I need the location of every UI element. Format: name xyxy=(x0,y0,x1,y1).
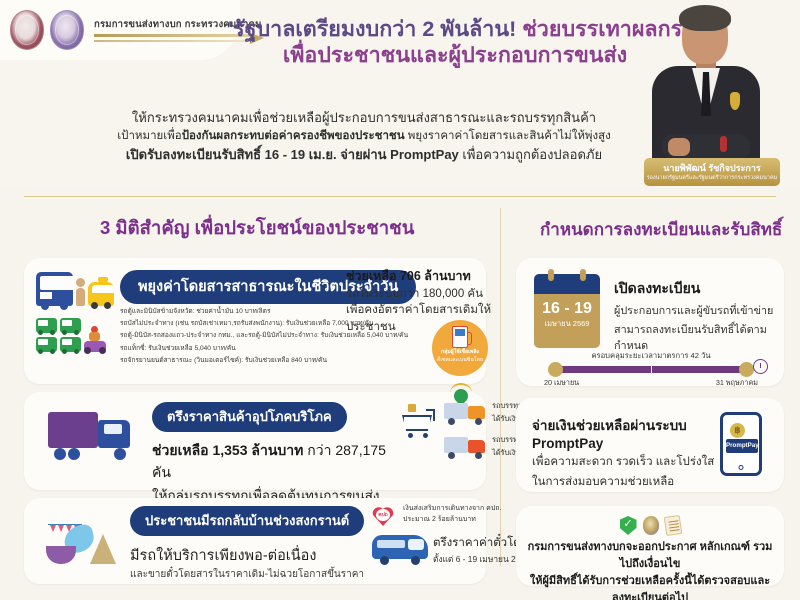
card1-bullet-3: รถแท็กซี่: รับเงินช่วยเหลือ 5,040 บาท/คั… xyxy=(120,343,420,355)
timeline-caption: ครอบคลุมระยะเวลามาตรการ 42 วัน xyxy=(538,350,764,362)
taxi-icon xyxy=(88,282,114,306)
measure-timeline: ครอบคลุมระยะเวลามาตรการ 42 วัน 20 เมษายน… xyxy=(538,350,764,389)
headline-line1-plain: 'รัฐบาลเตรียมงบกว่า 2 พันล้าน! xyxy=(228,17,522,41)
cargo-truck-icon xyxy=(48,412,132,460)
header-divider xyxy=(24,196,776,197)
lede-line2-b: ป้องกันผลกระทบต่อค่าครองชีพของประชาชน xyxy=(182,130,405,142)
lede-line-3: เปิดรับลงทะเบียนรับสิทธิ์ 16 - 19 เม.ย. … xyxy=(104,145,624,165)
card3-text-block: ประชาชนมีรถกลับบ้านช่วงสงกรานต์ มีรถให้บ… xyxy=(130,506,390,582)
card2-pill-label: ตรึงราคาสินค้าอุปโภคบริโภค xyxy=(152,402,347,432)
promptpay-text: จ่ายเงินช่วยเหลือผ่านระบบ PromptPay เพื่… xyxy=(532,414,718,492)
truck-without-gps-icon xyxy=(444,435,486,459)
announcement-text: กรมการขนส่งทางบกจะออกประกาศ หลักเกณฑ์ รว… xyxy=(526,539,774,600)
clock-icon xyxy=(753,359,768,374)
registration-title: เปิดลงทะเบียน xyxy=(614,278,780,300)
lede-line-2: เป้าหมายเพื่อป้องกันผลกระทบต่อค่าครองชีพ… xyxy=(104,128,624,145)
promptpay-logo: PromptPay xyxy=(726,439,758,453)
card1-bullet-4: รถจักรยานยนต์สาธารณะ (วินมอเตอร์ไซค์): ร… xyxy=(120,355,420,367)
promptpay-sub2: ในการส่งมอบความช่วยเหลือ xyxy=(532,474,718,491)
page-title: 'รัฐบาลเตรียมงบกว่า 2 พันล้าน! ช่วยบรรเท… xyxy=(228,16,688,68)
registration-text: เปิดลงทะเบียน ผู้ประกอบการและผู้ขับรถที่… xyxy=(614,278,780,355)
ministry-seal-icon xyxy=(50,10,84,50)
lapel-pin-icon xyxy=(730,92,740,110)
announcement-line2: ให้ผู้มีสิทธิ์ได้รับการช่วยเหลือครั้งนี้… xyxy=(526,573,774,600)
left-section-title: 3 มิติสำคัญ เพื่อประโยชน์ของประชาชน xyxy=(100,214,414,243)
motorcycle-taxi-icon xyxy=(84,326,106,352)
card1-bullet-1: รถบัสไม่ประจำทาง (เช่น รถบัสเช่าเหมา,รถร… xyxy=(120,318,420,330)
card-goods-prices: ตรึงราคาสินค้าอุปโภคบริโภค ช่วยเหลือ 1,3… xyxy=(24,392,486,490)
announcement-line1: กรมการขนส่งทางบกจะออกประกาศ หลักเกณฑ์ รว… xyxy=(526,539,774,573)
portrait-role: รองนายกรัฐมนตรีและรัฐมนตรีว่าการกระทรวงค… xyxy=(644,175,780,182)
timeline-start-dot xyxy=(548,362,563,377)
card3-sub: และขายตั๋วโดยสารในราคาเดิม-ไม่ฉวยโอกาสขึ… xyxy=(130,567,390,582)
registration-sub1: ผู้ประกอบการและผู้ขับรถที่เข้าข่าย xyxy=(614,303,780,319)
calendar-month: เมษายน 2569 xyxy=(534,318,600,330)
garuda-seal-icon xyxy=(10,10,44,50)
timeline-end-dot xyxy=(739,362,754,377)
fuel-pump-icon xyxy=(452,326,468,348)
card1-amount: ช่วยเหลือ 706 ล้านบาท xyxy=(346,266,522,286)
card1-bullet-2: รถตู้-มินิบัส-รถสองแถว-ประจำทาง กทม., แล… xyxy=(120,330,420,342)
portrait-figure xyxy=(646,8,766,180)
bus-icon xyxy=(36,272,73,306)
card-announcement: กรมการขนส่งทางบกจะออกประกาศ หลักเกณฑ์ รว… xyxy=(516,506,784,586)
card1-sub1: รถในระบบกว่า 180,000 คัน xyxy=(346,286,522,302)
portrait-nameplate: นายพิพัฒน์ รัชกิจประการ รองนายกรัฐมนตรีแ… xyxy=(644,158,780,186)
portrait-name: นายพิพัฒน์ รัชกิจประการ xyxy=(644,161,780,175)
lede-line2-c: พยุงราคาค่าโดยสารและสินค้าไม่ให้พุ่งสูง xyxy=(405,130,611,142)
promptpay-sub1: เพื่อความสะดวก รวดเร็ว และโปร่งใส xyxy=(532,454,718,471)
green-van-icon xyxy=(36,318,57,333)
card-songkran-travel: ประชาชนมีรถกลับบ้านช่วงสงกรานต์ มีรถให้บ… xyxy=(24,498,486,584)
fuel-group-badge: กลุ่มผู้ใช้เชื้อเพลิง ดีเซลและเบนซินโดย xyxy=(432,320,488,376)
card3-pill-label: ประชาชนมีรถกลับบ้านช่วงสงกรานต์ xyxy=(130,506,364,536)
shield-check-icon xyxy=(620,516,637,535)
shopping-cart-icon xyxy=(402,406,436,438)
minister-portrait: นายพิพัฒน์ รัชกิจประการ รองนายกรัฐมนตรีแ… xyxy=(624,2,786,186)
promptpay-title: จ่ายเงินช่วยเหลือผ่านระบบ PromptPay xyxy=(532,414,718,451)
truck-with-gps-icon xyxy=(444,401,486,425)
lede-line-1: ให้กระทรวงคมนาคมเพื่อช่วยเหลือผู้ประกอบก… xyxy=(104,108,624,128)
coin-icon: ฿ xyxy=(730,423,745,438)
passenger-icon xyxy=(76,278,85,306)
official-seal-icon xyxy=(643,516,659,535)
timeline-end-label: 31 พฤษภาคม xyxy=(716,378,758,389)
timeline-start-label: 20 เมษายน xyxy=(544,378,579,389)
transport-icon-group xyxy=(36,272,114,370)
green-taxi-icon xyxy=(60,337,81,352)
songkran-icon xyxy=(44,524,118,566)
right-section-title: กำหนดการลงทะเบียนและรับสิทธิ์ xyxy=(540,216,782,243)
card2-amount-bold: ช่วยเหลือ 1,353 ล้านบาท xyxy=(152,442,303,458)
card1-bullet-0: รถตู้และมินิบัสข้ามจังหวัด: ช่วยค่าน้ำมั… xyxy=(120,306,420,318)
coach-bus-icon xyxy=(372,535,428,565)
lede-line3-a: เปิดรับลงทะเบียนรับสิทธิ์ 16 - 19 เม.ย. … xyxy=(126,147,459,162)
card3-main: มีรถให้บริการเพียงพอ-ต่อเนื่อง xyxy=(130,544,390,567)
green-songthaew-icon xyxy=(36,337,57,352)
lede-line2-a: เป้าหมายเพื่อ xyxy=(117,130,181,142)
timeline-bar xyxy=(556,366,746,373)
card-registration-period: 16 - 19 เมษายน 2569 เปิดลงทะเบียน ผู้ประ… xyxy=(516,258,784,386)
card3-kpt-line2: ประมาณ 2 ร้อยล้านบาท xyxy=(403,515,501,526)
card-promptpay: จ่ายเงินช่วยเหลือผ่านระบบ PromptPay เพื่… xyxy=(516,398,784,492)
green-minibus-icon xyxy=(60,318,81,333)
header-description: ให้กระทรวงคมนาคมเพื่อช่วยเหลือผู้ประกอบก… xyxy=(104,108,624,164)
organization-logos: กรมการขนส่งทางบก กระทรวงคมนาคม xyxy=(10,10,264,50)
lede-line3-b: เพื่อความถูกต้องปลอดภัย xyxy=(459,147,602,162)
card3-kpt-line1: เงินส่งเสริมการเดินทางจาก คปถ. xyxy=(403,504,501,515)
announcement-icon-group xyxy=(516,516,784,535)
calendar-icon: 16 - 19 เมษายน 2569 xyxy=(534,274,600,348)
card-public-transport: พยุงค่าโดยสารสาธารณะในชีวิตประจำวัน ช่วย… xyxy=(24,258,486,384)
fuel-badge-line1: กลุ่มผู้ใช้เชื้อเพลิง xyxy=(432,349,488,356)
card1-bullet-list: รถตู้และมินิบัสข้ามจังหวัด: ช่วยค่าน้ำมั… xyxy=(120,306,420,367)
fuel-badge-line2: ดีเซลและเบนซินโดย xyxy=(432,357,488,364)
kpt-heart-icon: คปถ xyxy=(372,504,398,528)
calendar-days: 16 - 19 xyxy=(534,300,600,318)
smartphone-icon: ฿ PromptPay xyxy=(720,412,762,476)
headline-line2: เพื่อประชาชนและผู้ประกอบการขนส่ง xyxy=(228,42,688,68)
document-icon xyxy=(663,515,681,536)
infographic-page: กรมการขนส่งทางบก กระทรวงคมนาคม 'รัฐบาลเต… xyxy=(0,0,800,600)
header-banner: กรมการขนส่งทางบก กระทรวงคมนาคม 'รัฐบาลเต… xyxy=(0,0,800,188)
card2-amount: ช่วยเหลือ 1,353 ล้านบาท กว่า 287,175 คัน xyxy=(152,440,392,484)
